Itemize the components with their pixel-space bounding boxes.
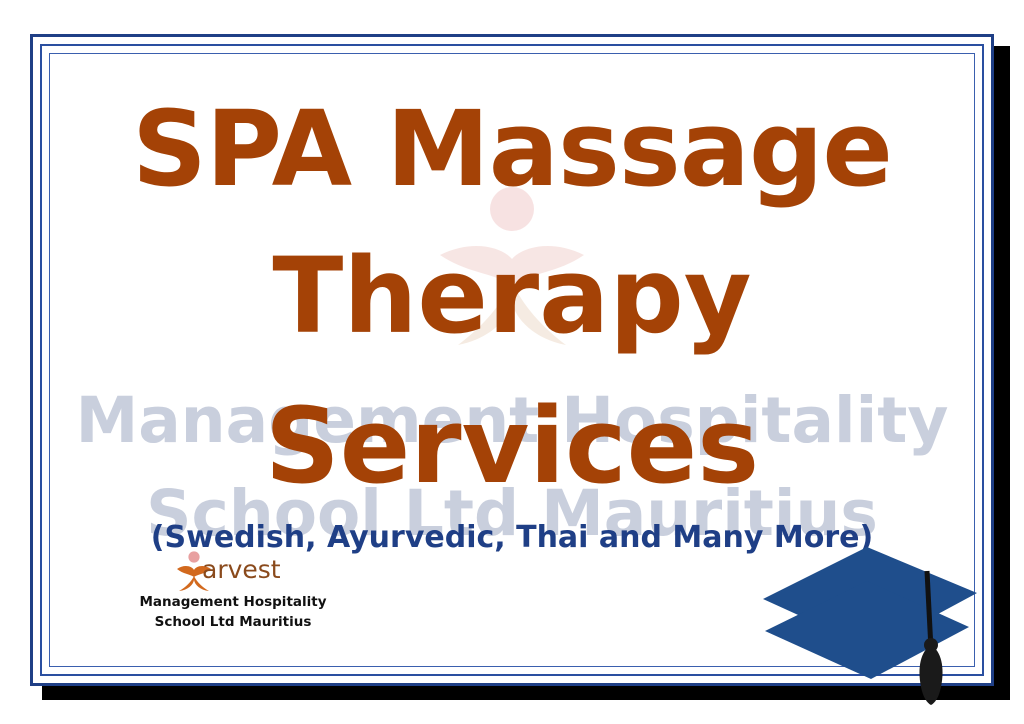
title-line-3: Services [33, 394, 991, 498]
graduation-cap-icon [755, 527, 985, 707]
brand-mark: arvest [168, 549, 298, 591]
brand-subtitle: Management Hospitality School Ltd Maurit… [133, 593, 333, 632]
brand-subtitle-line-1: Management Hospitality [133, 593, 333, 613]
poster-canvas: Management Hospitality School Ltd Maurit… [0, 0, 1024, 724]
framed-card: Management Hospitality School Ltd Maurit… [30, 34, 994, 686]
title-line-1: SPA Massage [33, 97, 991, 201]
brand-subtitle-line-2: School Ltd Mauritius [133, 613, 333, 633]
brand-logo-block: arvest Management Hospitality School Ltd… [133, 549, 333, 632]
brand-wordmark: arvest [202, 555, 281, 584]
title-line-2: Therapy [33, 244, 991, 348]
